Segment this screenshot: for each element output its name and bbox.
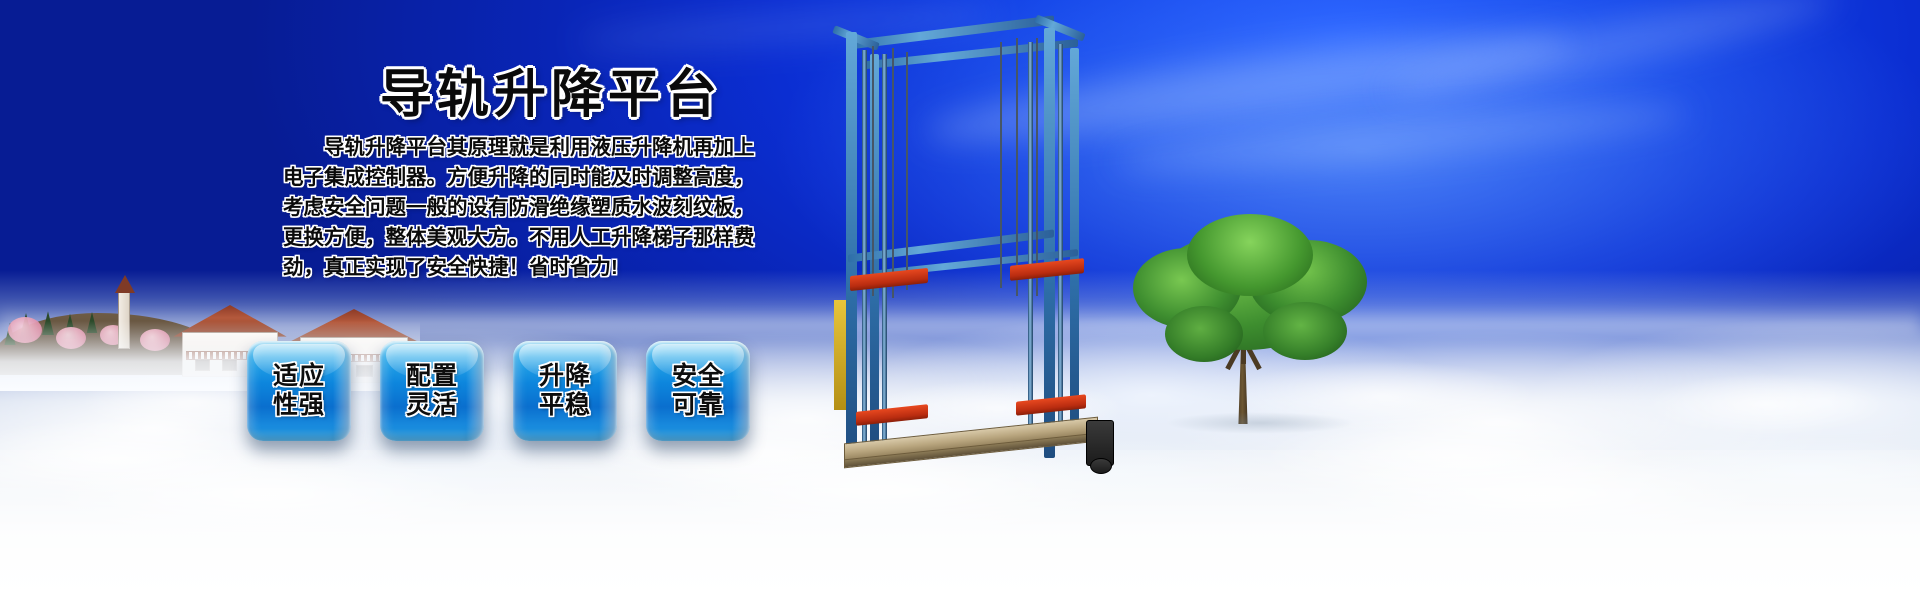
feature-button-label: 安全 可靠 <box>672 362 724 420</box>
feature-button-label: 升降 平稳 <box>539 362 591 420</box>
feature-button-configuration[interactable]: 配置 灵活 <box>380 341 484 441</box>
lift-cable <box>1036 38 1038 296</box>
feature-button-adaptability[interactable]: 适应 性强 <box>247 341 351 441</box>
promo-banner: 导轨升降平台 导轨升降平台其原理就是利用液压升降机再加上电子集成控制器。方便升降… <box>0 0 1920 600</box>
tree-shadow <box>1165 412 1355 434</box>
page-title: 导轨升降平台 <box>380 52 722 127</box>
guide-rail-lift-platform <box>820 10 1140 480</box>
feature-button-label: 适应 性强 <box>273 362 325 420</box>
frame-column-front-left <box>846 32 857 462</box>
lift-cable <box>1000 42 1002 288</box>
lift-cable <box>906 52 908 290</box>
tree-canopy <box>1263 302 1347 360</box>
green-tree <box>1105 214 1385 424</box>
guide-rail <box>1028 42 1033 446</box>
feature-button-row: 适应 性强 配置 灵活 升降 平稳 安全 可靠 <box>247 341 750 441</box>
guide-rail <box>882 54 887 450</box>
feature-button-safety[interactable]: 安全 可靠 <box>646 341 750 441</box>
control-panel <box>834 300 846 410</box>
feature-button-smooth-lift[interactable]: 升降 平稳 <box>513 341 617 441</box>
guide-rail <box>1058 44 1063 444</box>
frame-column-back-right <box>1070 48 1079 440</box>
power-unit-wheel <box>1090 458 1112 474</box>
frame-beam-top-side <box>1034 15 1085 42</box>
lift-cable <box>1016 38 1018 296</box>
frame-column-front-right <box>1044 28 1055 458</box>
lift-cable <box>892 48 894 298</box>
tree-canopy <box>1165 306 1243 362</box>
description-paragraph: 导轨升降平台其原理就是利用液压升降机再加上电子集成控制器。方便升降的同时能及时调… <box>283 133 755 283</box>
guide-rail <box>862 50 867 450</box>
feature-button-label: 配置 灵活 <box>406 362 458 420</box>
lift-cable <box>872 46 874 296</box>
tree-canopy <box>1187 214 1313 296</box>
